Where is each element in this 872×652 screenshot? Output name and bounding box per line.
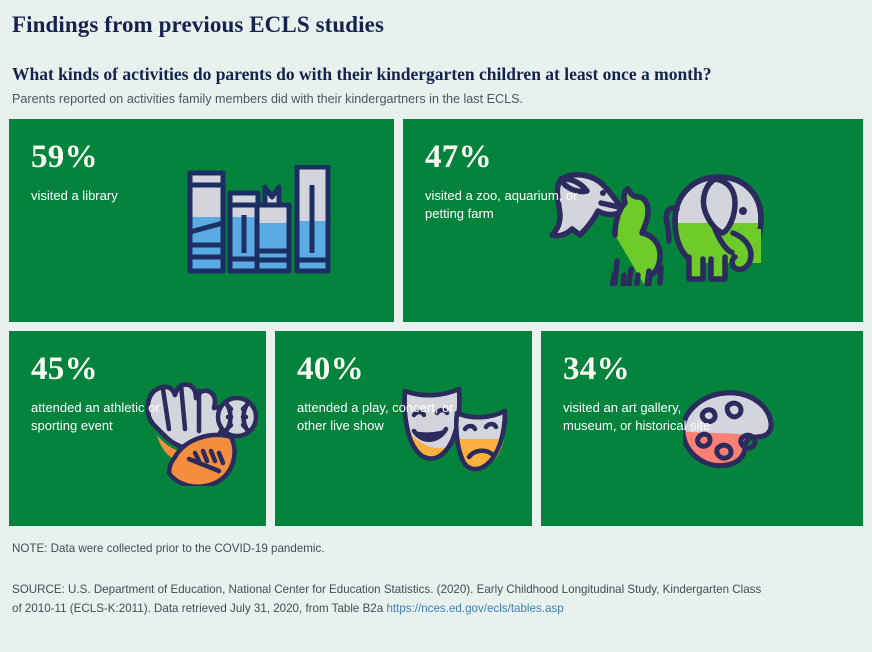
stat-label: visited a library — [31, 187, 118, 205]
footer-note: NOTE: Data were collected prior to the C… — [12, 542, 862, 555]
stat-card-art: 34% visited an art gallery, museum, or h… — [541, 331, 863, 526]
stat-percent: 47% — [425, 141, 600, 174]
stat-label: visited a zoo, aquarium, or petting farm — [425, 187, 600, 224]
books-icon — [185, 165, 335, 280]
stat-label: attended a play, concert, or other live … — [297, 399, 472, 436]
footer-source: SOURCE: U.S. Department of Education, Na… — [12, 581, 772, 619]
stat-card-text: 47% visited a zoo, aquarium, or petting … — [403, 119, 600, 224]
stat-card-text: 34% visited an art gallery, museum, or h… — [541, 331, 738, 436]
infographic-page: Findings from previous ECLS studies What… — [0, 0, 872, 652]
stat-card-performance: 40% attended a play, concert, or other l… — [275, 331, 532, 526]
stat-percent: 40% — [297, 353, 472, 386]
stat-card-grid: 59% visited a library — [0, 119, 872, 526]
stat-card-text: 40% attended a play, concert, or other l… — [275, 331, 472, 436]
stat-label: attended an athletic or sporting event — [31, 399, 206, 436]
stat-percent: 45% — [31, 353, 206, 386]
footer: NOTE: Data were collected prior to the C… — [0, 526, 872, 619]
stat-card-library: 59% visited a library — [9, 119, 394, 322]
stat-card-text: 45% attended an athletic or sporting eve… — [9, 331, 206, 436]
stat-label: visited an art gallery, museum, or histo… — [563, 399, 738, 436]
stat-card-row-top: 59% visited a library — [9, 119, 863, 322]
stat-percent: 59% — [31, 141, 118, 174]
stat-card-sports: 45% attended an athletic or sporting eve… — [9, 331, 266, 526]
source-url-link[interactable]: https://nces.ed.gov/ecls/tables.asp — [386, 602, 563, 615]
page-title: Findings from previous ECLS studies — [12, 12, 862, 38]
section-question: What kinds of activities do parents do w… — [12, 64, 862, 85]
stat-card-row-bottom: 45% attended an athletic or sporting eve… — [9, 331, 863, 526]
header: Findings from previous ECLS studies What… — [0, 0, 872, 106]
stat-percent: 34% — [563, 353, 738, 386]
stat-card-zoo: 47% visited a zoo, aquarium, or petting … — [403, 119, 863, 322]
section-description: Parents reported on activities family me… — [12, 92, 862, 106]
stat-card-text: 59% visited a library — [9, 119, 118, 205]
